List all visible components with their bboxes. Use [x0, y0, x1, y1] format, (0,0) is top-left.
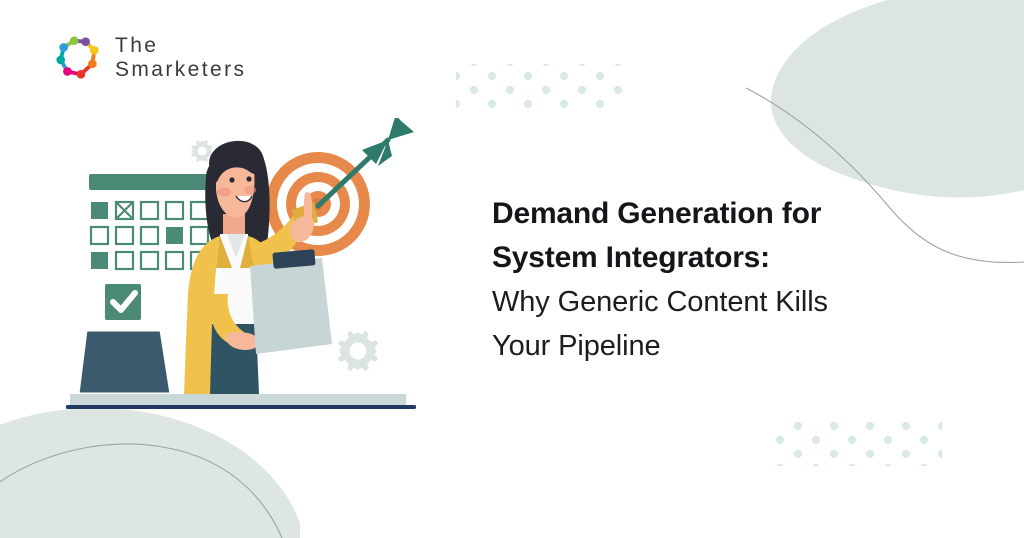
title-line-2: System Integrators: — [492, 236, 962, 280]
checkmark-box-icon — [105, 284, 141, 320]
title-line-1: Demand Generation for — [492, 192, 962, 236]
laptop-icon — [72, 330, 190, 401]
page-title: Demand Generation for System Integrators… — [492, 192, 962, 368]
desk-surface — [66, 394, 416, 409]
brand-name-line1: The — [115, 34, 246, 58]
banner-root: The Smarketers — [0, 0, 1024, 538]
sage-circle-bottom-left — [0, 408, 306, 538]
businesswoman-pointing-at-target-illustration — [60, 118, 450, 418]
brand-name: The Smarketers — [115, 34, 246, 83]
thin-gray-arc-bottom-left — [0, 444, 282, 538]
title-line-3: Why Generic Content Kills — [492, 280, 962, 324]
sage-blob-top-right — [771, 0, 1024, 197]
hexagonal-network-nodes-icon — [54, 33, 102, 83]
clipboard-icon — [250, 249, 332, 354]
title-line-4: Your Pipeline — [492, 324, 962, 368]
brand-name-line2: Smarketers — [115, 58, 246, 82]
brand-logo[interactable]: The Smarketers — [54, 33, 246, 83]
dot-grid-top — [456, 64, 622, 110]
dot-grid-bottom — [776, 420, 942, 466]
gear-large-icon — [338, 331, 379, 372]
